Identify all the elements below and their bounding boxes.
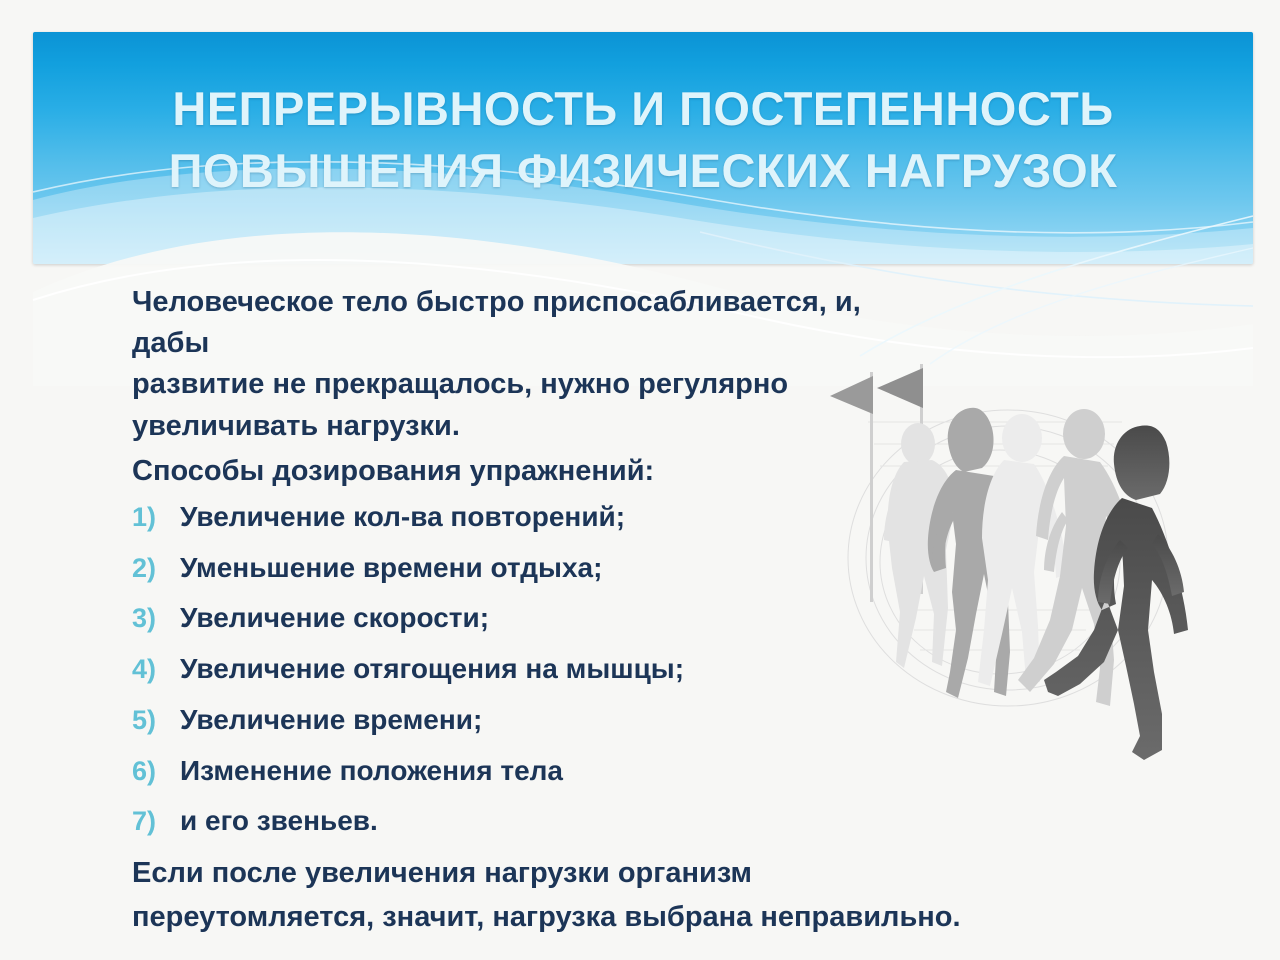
list-item-label: Уменьшение времени отдыха; — [180, 548, 602, 588]
page-title: НЕПРЕРЫВНОСТЬ И ПОСТЕПЕННОСТЬ ПОВЫШЕНИЯ … — [33, 78, 1253, 202]
list-item-number: 5) — [132, 701, 180, 739]
list-item: 1)Увеличение кол-ва повторений; — [132, 497, 892, 537]
list-item-label: Увеличение кол-ва повторений; — [180, 497, 625, 537]
list-item-number: 4) — [132, 650, 180, 688]
list-item-number: 6) — [132, 752, 180, 790]
presentation-slide: НЕПРЕРЫВНОСТЬ И ПОСТЕПЕННОСТЬ ПОВЫШЕНИЯ … — [0, 0, 1280, 960]
list-item: 5)Увеличение времени; — [132, 700, 892, 740]
header-banner: НЕПРЕРЫВНОСТЬ И ПОСТЕПЕННОСТЬ ПОВЫШЕНИЯ … — [33, 32, 1253, 264]
intro-paragraph: Человеческое тело быстро приспосабливает… — [132, 282, 892, 447]
list-item-label: и его звеньев. — [180, 801, 378, 841]
track-lines — [868, 422, 1122, 650]
methods-lead-in: Способы дозирования упражнений: — [132, 451, 892, 492]
runner-silhouette-5 — [1044, 426, 1188, 760]
list-item-label: Увеличение времени; — [180, 700, 482, 740]
list-item-number: 7) — [132, 802, 180, 840]
slide-body: Человеческое тело быстро приспосабливает… — [132, 282, 892, 941]
runner-silhouette-2 — [928, 408, 1032, 698]
runner-silhouette-1 — [884, 423, 954, 668]
list-item-label: Изменение положения тела — [180, 751, 563, 791]
list-item: 7) и его звеньев. — [132, 801, 892, 841]
list-item: 6)Изменение положения тела — [132, 751, 892, 791]
list-item-number: 1) — [132, 498, 180, 536]
runner-silhouette-4 — [1018, 409, 1136, 706]
list-item-label: Увеличение отягощения на мышцы; — [180, 649, 684, 689]
list-item-number: 3) — [132, 599, 180, 637]
list-item: 3)Увеличение скорости; — [132, 598, 892, 638]
list-item: 2)Уменьшение времени отдыха; — [132, 548, 892, 588]
closing-paragraph: Если после увеличения нагрузки организм … — [132, 852, 1172, 939]
list-item-label: Увеличение скорости; — [180, 598, 489, 638]
ring-decoration — [848, 410, 1168, 706]
runner-silhouette-3 — [978, 414, 1068, 686]
list-item-number: 2) — [132, 549, 180, 587]
list-item: 4)Увеличение отягощения на мышцы; — [132, 649, 892, 689]
methods-list: 1)Увеличение кол-ва повторений;2)Уменьше… — [132, 497, 892, 841]
